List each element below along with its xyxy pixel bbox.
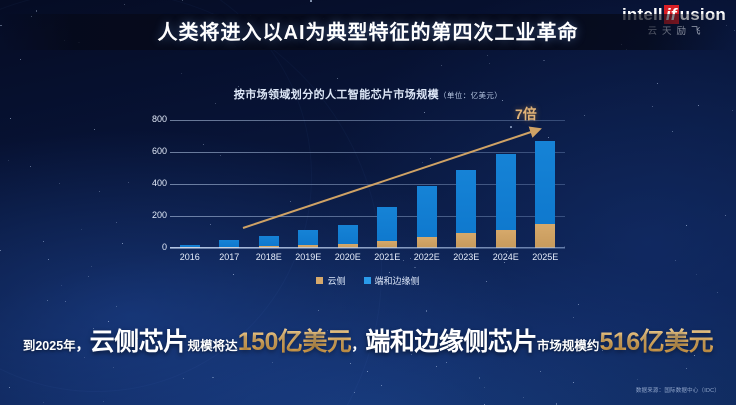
star-dot [540, 371, 541, 372]
bar-segment-edge [496, 154, 516, 230]
x-axis-tick-label: 2016 [172, 252, 208, 262]
star-dot [318, 310, 319, 311]
bar-column [496, 120, 516, 248]
caption-highlight-edge-chip: 端和边缘侧芯片 [365, 322, 537, 358]
x-axis-tick-label: 2021E [369, 252, 405, 262]
chart-title: 按市场领域划分的人工智能芯片市场规模（单位：亿美元） [0, 86, 736, 102]
star-dot [122, 243, 123, 244]
star-dot [675, 260, 676, 261]
star-dot [8, 160, 9, 161]
x-axis-tick-label: 2018E [251, 252, 287, 262]
bar-segment-edge [535, 141, 555, 224]
chart-bars [170, 120, 565, 248]
star-dot [272, 362, 273, 363]
bar-column [535, 120, 555, 248]
star-dot [573, 317, 574, 318]
bar-column [180, 120, 200, 248]
star-dot [672, 131, 673, 132]
legend-swatch-icon [316, 277, 323, 284]
slide-root: intellifusion 云天励飞 人类将进入以AI为典型特征的第四次工业革命… [0, 0, 736, 405]
star-dot [81, 229, 82, 230]
star-dot [652, 106, 653, 107]
star-dot [686, 225, 687, 226]
star-dot [0, 250, 1, 251]
source-note: 数据来源：国际数据中心（IDC） [636, 386, 720, 394]
star-dot [354, 392, 355, 393]
x-axis-tick-label: 2020E [330, 252, 366, 262]
y-axis-tick-label: 600 [135, 146, 167, 156]
caption-part-1: 到2025年 [23, 335, 76, 354]
caption-comma-2: ， [351, 335, 365, 355]
page-title: 人类将进入以AI为典型特征的第四次工业革命 [0, 16, 736, 45]
star-dot [9, 387, 10, 388]
star-dot [181, 73, 182, 74]
chart-legend: 云侧端和边缘侧 [0, 274, 736, 287]
legend-swatch-icon [364, 277, 371, 284]
star-dot [573, 382, 574, 383]
bottom-caption: 到2025年 ， 云侧芯片 规模将达 150亿美元 ， 端和边缘侧芯片 市场规模… [0, 322, 736, 358]
star-dot [212, 377, 214, 379]
caption-value-cloud: 150亿美元 [238, 322, 352, 358]
caption-value-edge: 516亿美元 [599, 322, 713, 358]
star-dot [578, 304, 579, 305]
star-dot [128, 182, 129, 183]
star-dot [43, 402, 44, 403]
star-dot [103, 401, 104, 402]
caption-part-3: 市场规模约 [537, 335, 600, 354]
star-dot [65, 301, 67, 303]
legend-item[interactable]: 云侧 [316, 274, 345, 287]
bar-column [377, 120, 397, 248]
bar-segment-edge [377, 207, 397, 242]
bar-segment-cloud [496, 230, 516, 248]
star-dot [337, 78, 338, 79]
bar-segment-edge [298, 230, 318, 245]
star-dot [48, 259, 49, 260]
x-axis-tick-label: 2017 [211, 252, 247, 262]
star-dot [113, 367, 114, 368]
star-dot [698, 105, 699, 106]
chart-plot-area: 0200400600800 [145, 120, 565, 248]
x-axis-tick-label: 2019E [290, 252, 326, 262]
bar-segment-edge [259, 236, 279, 246]
star-dot [182, 0, 183, 1]
bar-column [417, 120, 437, 248]
bar-column [298, 120, 318, 248]
star-dot [20, 59, 21, 60]
y-axis-tick-label: 800 [135, 114, 167, 124]
star-dot [523, 397, 524, 398]
bar-column [338, 120, 358, 248]
star-dot [414, 267, 416, 269]
bar-column [456, 120, 476, 248]
star-dot [446, 362, 447, 363]
star-dot [215, 103, 216, 104]
star-dot [94, 129, 95, 130]
bar-column [219, 120, 239, 248]
x-axis-tick-label: 2023E [448, 252, 484, 262]
star-dot [350, 363, 351, 364]
star-dot [310, 0, 312, 2]
x-axis-tick-label: 2025E [527, 252, 563, 262]
star-dot [91, 266, 92, 267]
y-axis-tick-label: 400 [135, 178, 167, 188]
chart-title-main: 按市场领域划分的人工智能芯片市场规模 [234, 89, 439, 101]
bar-segment-cloud [535, 224, 555, 248]
x-axis-tick-label: 2022E [409, 252, 445, 262]
star-dot [47, 300, 48, 301]
star-dot [424, 112, 425, 113]
star-dot [504, 262, 505, 263]
star-dot [59, 183, 60, 184]
star-dot [183, 378, 184, 379]
star-dot [441, 65, 442, 66]
star-dot [484, 387, 485, 388]
legend-label: 端和边缘侧 [375, 274, 420, 287]
x-axis-tick-label: 2024E [488, 252, 524, 262]
star-dot [657, 83, 659, 85]
bar-segment-edge [338, 225, 358, 244]
star-dot [99, 191, 100, 192]
chart-x-axis-line [170, 247, 565, 249]
star-dot [436, 366, 437, 367]
caption-highlight-cloud-chip: 云侧芯片 [90, 322, 188, 358]
y-axis-tick-label: 0 [135, 242, 167, 252]
legend-item[interactable]: 端和边缘侧 [364, 274, 420, 287]
multiple-annotation: 7倍 [515, 104, 537, 124]
bar-segment-edge [417, 186, 437, 238]
star-dot [637, 379, 638, 380]
caption-comma-1: ， [76, 335, 90, 355]
chart-title-unit: （单位：亿美元） [439, 91, 502, 100]
star-dot [116, 222, 117, 223]
star-dot [43, 241, 44, 242]
star-dot [36, 10, 38, 12]
y-axis-tick-label: 200 [135, 210, 167, 220]
legend-label: 云侧 [327, 274, 345, 287]
star-dot [487, 55, 488, 56]
star-dot [116, 306, 117, 307]
gridline [170, 248, 565, 249]
chart-x-labels: 201620172018E2019E2020E2021E2022E2023E20… [170, 252, 565, 262]
star-dot [479, 377, 481, 379]
caption-part-2: 规模将达 [188, 335, 238, 354]
star-dot [426, 310, 428, 312]
star-dot [10, 118, 11, 119]
star-dot [725, 215, 726, 216]
bar-column [259, 120, 279, 248]
star-dot [686, 368, 687, 369]
star-dot [30, 166, 31, 167]
star-dot [367, 371, 368, 372]
star-dot [489, 63, 490, 64]
star-dot [717, 292, 718, 293]
star-dot [124, 4, 125, 5]
star-dot [381, 385, 383, 387]
bar-segment-edge [456, 170, 476, 233]
star-dot [732, 110, 733, 111]
star-dot [584, 115, 585, 116]
star-dot [543, 60, 545, 62]
